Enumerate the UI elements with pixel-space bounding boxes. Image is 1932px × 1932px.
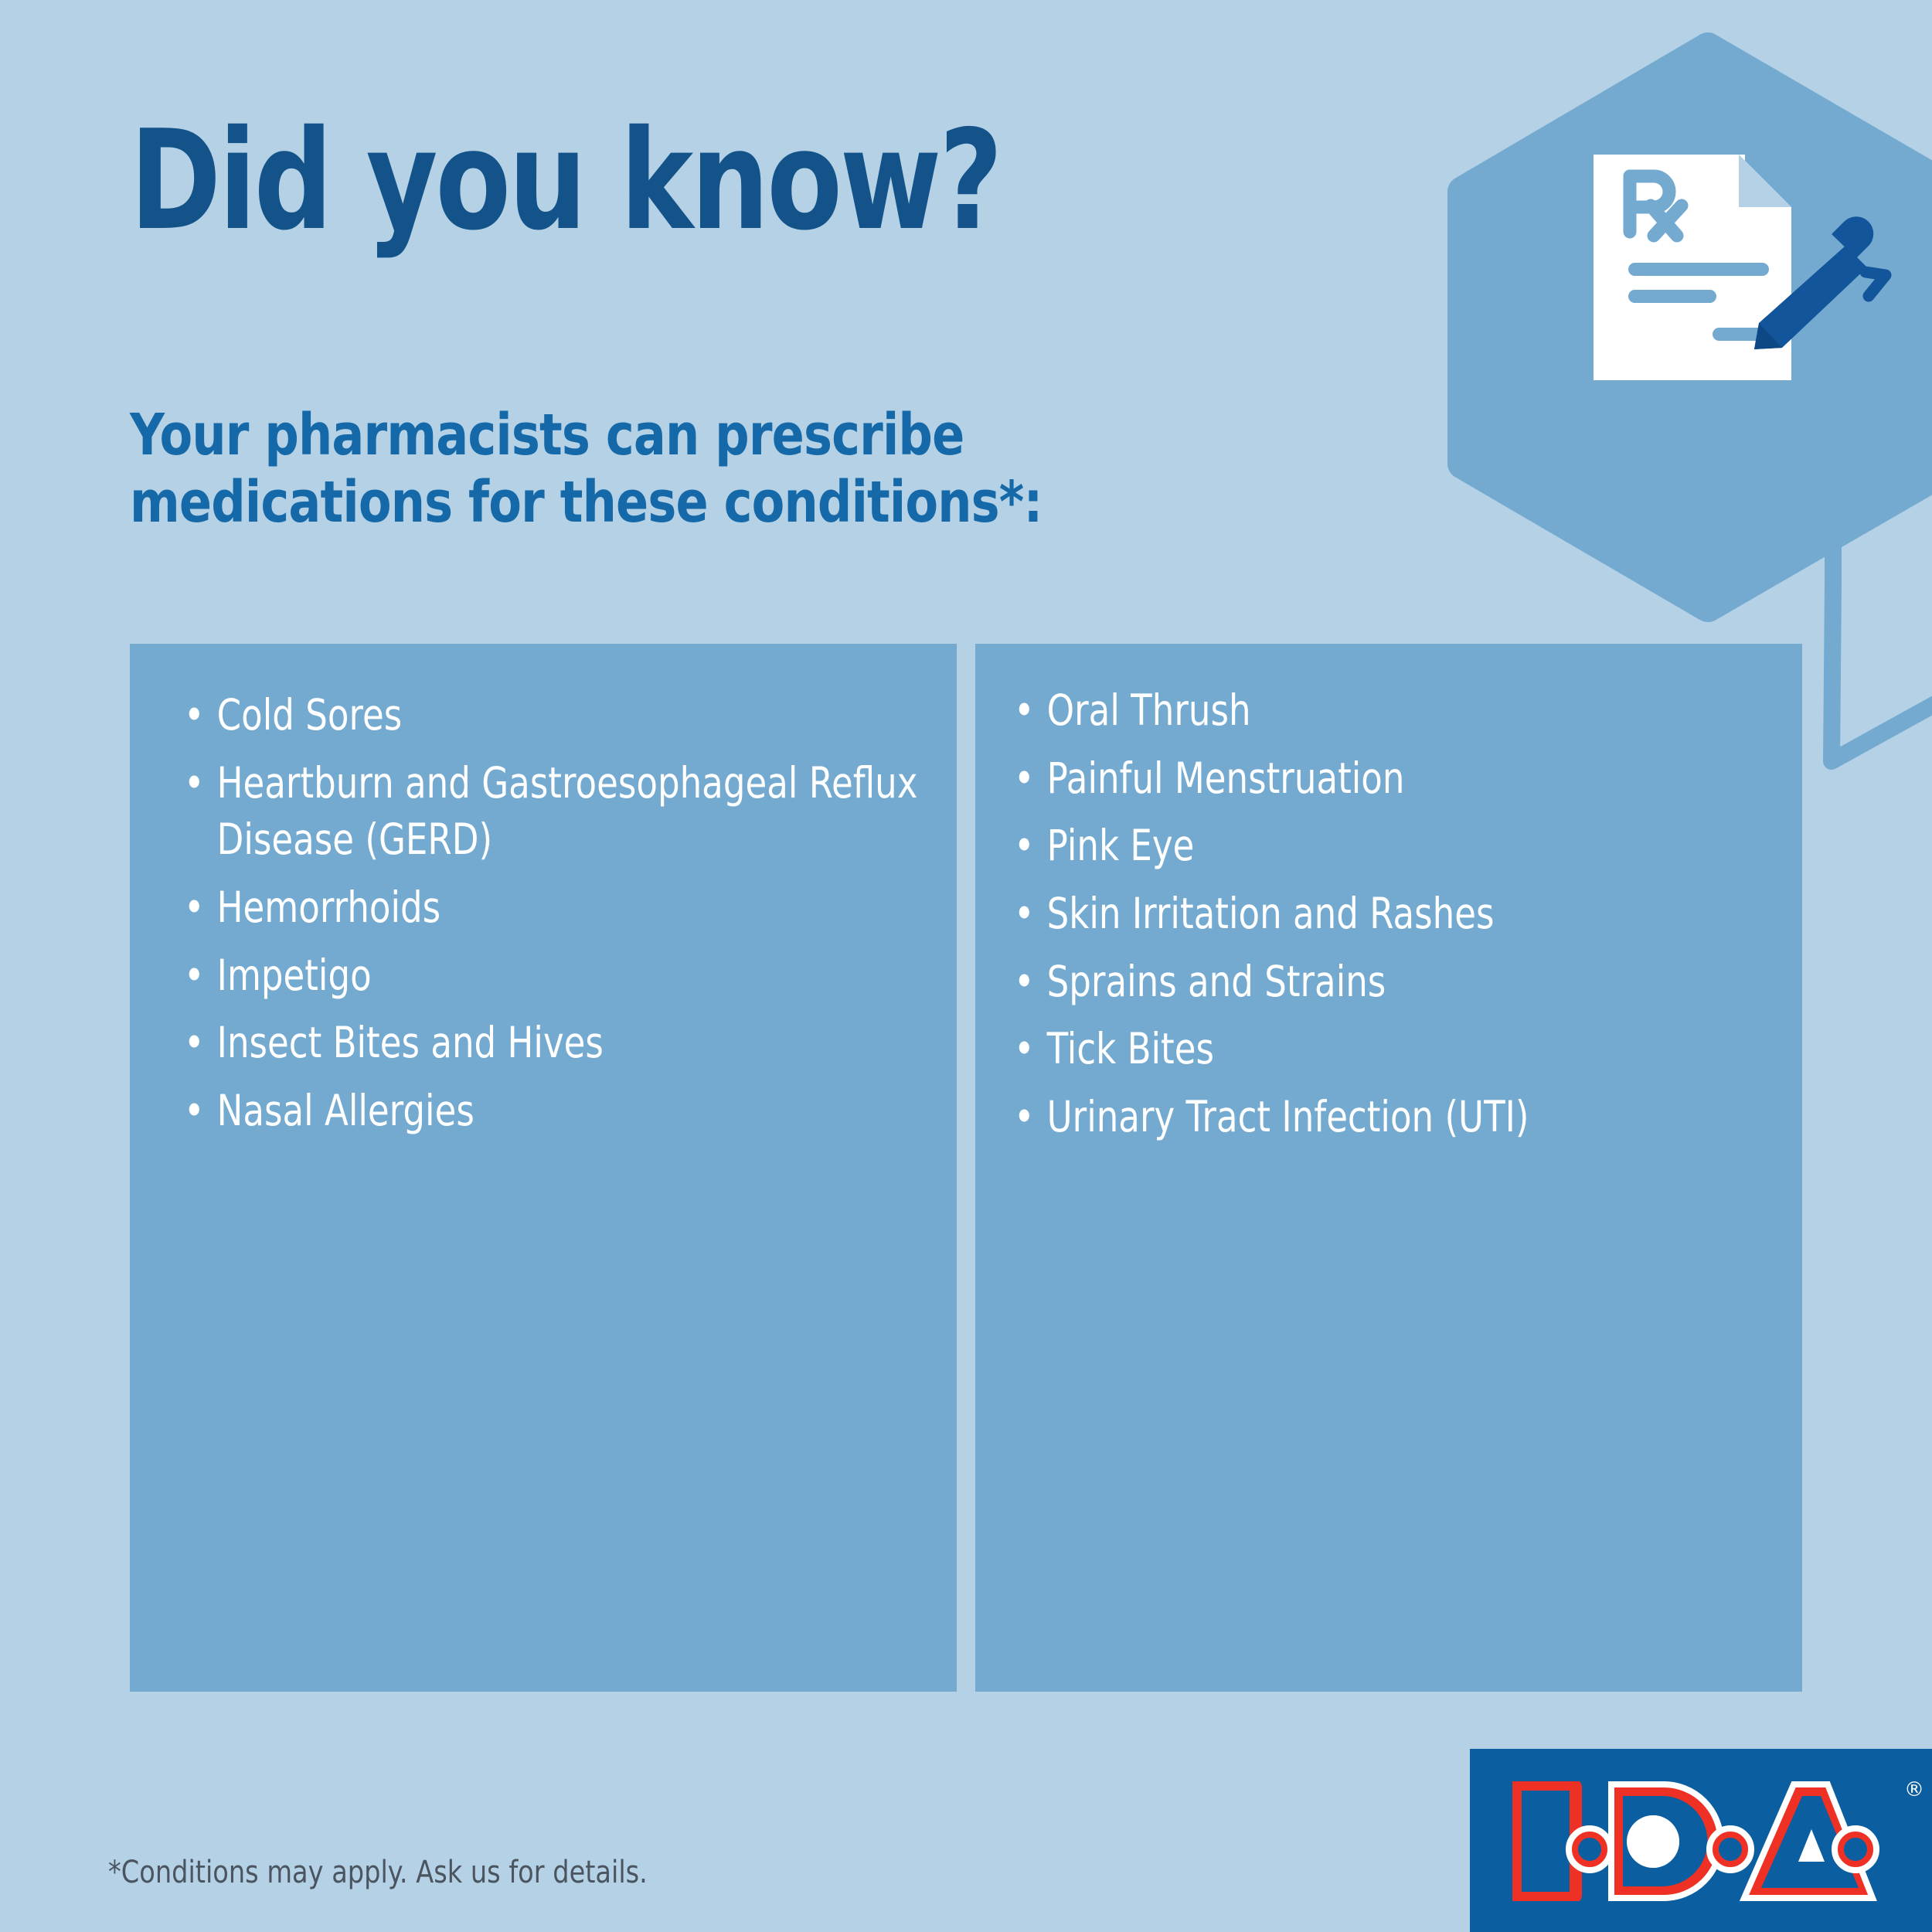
bullet-icon: • [1014, 818, 1047, 875]
prescription-document-icon [1594, 155, 1886, 380]
list-item: •Heartburn and Gastroesophageal Reflux D… [184, 755, 959, 869]
ida-logo-block: ® [1470, 1749, 1932, 1932]
bullet-icon: • [184, 1015, 217, 1072]
rx-symbol [1630, 176, 1682, 236]
list-item-label: Painful Menstruation [1047, 753, 1405, 803]
page-title: Did you know? [130, 112, 1001, 250]
hexagon-outline-shape [1832, 417, 1932, 761]
bullet-icon: • [1014, 750, 1047, 808]
pen-icon [1754, 216, 1886, 349]
page-subtitle: Your pharmacists can prescribe medicatio… [130, 402, 1043, 537]
list-item: •Impetigo [184, 947, 959, 1005]
logo-dot-3 [1835, 1828, 1876, 1870]
poster-canvas: Did you know? Your pharmacists can presc… [0, 0, 1932, 1932]
subtitle-line-2: medications for these conditions*: [130, 469, 1043, 536]
list-item-label: Cold Sores [217, 690, 403, 740]
list-item-label: Skin Irritation and Rashes [1047, 889, 1495, 938]
bullet-icon: • [184, 947, 217, 1005]
hexagon-shape [1463, 48, 1932, 607]
bullet-icon: • [1014, 1089, 1047, 1146]
list-item-label: Impetigo [217, 951, 372, 1000]
list-item: •Sprains and Strains [1014, 954, 1804, 1011]
list-item: •Skin Irritation and Rashes [1014, 886, 1804, 943]
list-item: •Urinary Tract Infection (UTI) [1014, 1089, 1804, 1146]
conditions-panel-right: •Oral Thrush •Painful Menstruation •Pink… [975, 644, 1802, 1692]
subtitle-line-1: Your pharmacists can prescribe [130, 402, 1043, 469]
bullet-icon: • [1014, 954, 1047, 1011]
logo-letter-i [1515, 1784, 1576, 1898]
list-item-label: Heartburn and Gastroesophageal Reflux Di… [217, 758, 918, 865]
bullet-icon: • [1014, 1021, 1047, 1078]
bullet-icon: • [184, 755, 217, 812]
list-item-label: Sprains and Strains [1047, 957, 1386, 1006]
list-item: •Tick Bites [1014, 1021, 1804, 1078]
logo-letter-d [1611, 1784, 1720, 1898]
conditions-panel-left: •Cold Sores •Heartburn and Gastroesophag… [130, 644, 957, 1692]
bullet-icon: • [184, 1083, 217, 1140]
list-item: •Cold Sores [184, 687, 959, 744]
list-item: •Nasal Allergies [184, 1083, 959, 1140]
list-item-label: Hemorrhoids [217, 883, 441, 932]
list-item-label: Urinary Tract Infection (UTI) [1047, 1092, 1529, 1141]
list-item: •Insect Bites and Hives [184, 1015, 959, 1072]
logo-dot-2 [1709, 1828, 1751, 1870]
list-item-label: Oral Thrush [1047, 685, 1251, 735]
conditions-list-left: •Cold Sores •Heartburn and Gastroesophag… [130, 644, 957, 1140]
bullet-icon: • [184, 879, 217, 937]
conditions-list-right: •Oral Thrush •Painful Menstruation •Pink… [975, 644, 1802, 1146]
list-item: •Oral Thrush [1014, 682, 1804, 740]
logo-dot-1 [1569, 1828, 1611, 1870]
list-item: •Pink Eye [1014, 818, 1804, 875]
list-item-label: Nasal Allergies [217, 1086, 474, 1135]
bullet-icon: • [1014, 886, 1047, 943]
bullet-icon: • [184, 687, 217, 744]
list-item: •Hemorrhoids [184, 879, 959, 937]
footnote-text: *Conditions may apply. Ask us for detail… [108, 1855, 648, 1890]
ida-logo-mark [1512, 1781, 1891, 1901]
registered-trademark-icon: ® [1904, 1778, 1924, 1801]
list-item-label: Pink Eye [1047, 821, 1195, 870]
list-item: •Painful Menstruation [1014, 750, 1804, 808]
bullet-icon: • [1014, 682, 1047, 740]
list-item-label: Insect Bites and Hives [217, 1018, 604, 1067]
list-item-label: Tick Bites [1047, 1024, 1214, 1073]
